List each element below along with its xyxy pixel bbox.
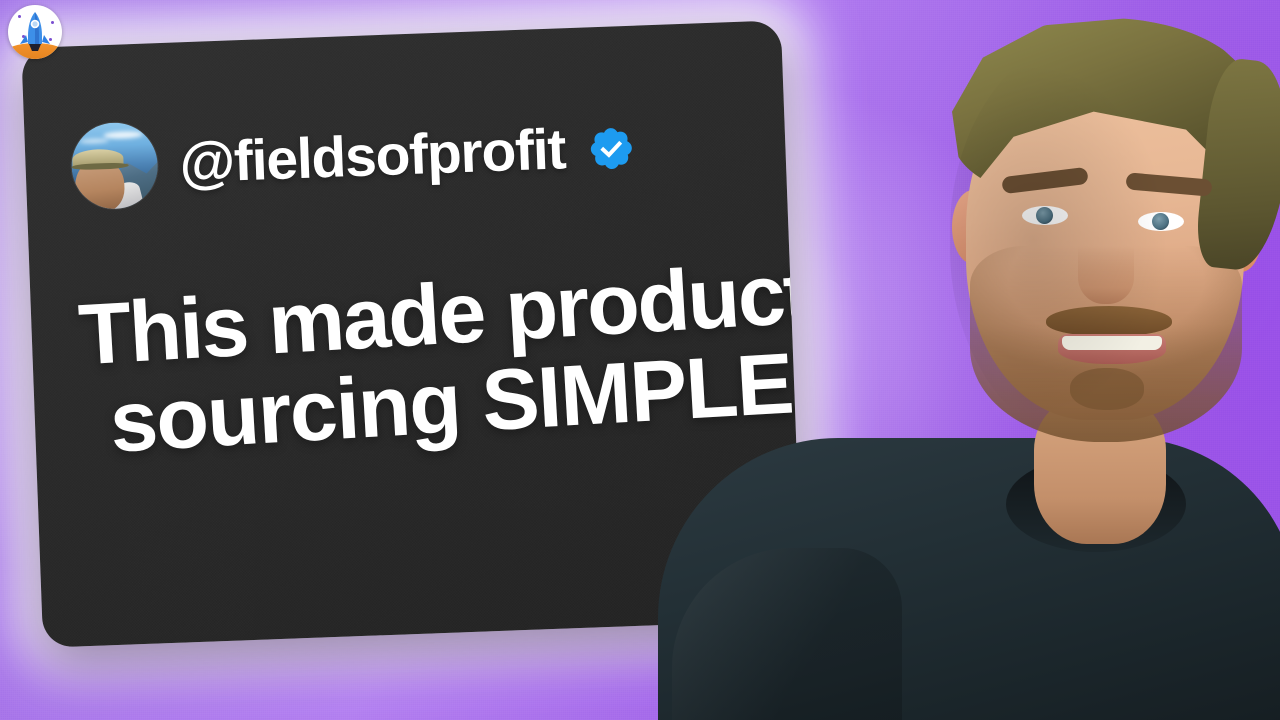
card-header: @fieldsofprofit <box>70 104 637 211</box>
verified-badge-icon <box>586 124 636 174</box>
logo-rocket-glyph <box>8 5 62 59</box>
account-handle: @fieldsofprofit <box>179 121 567 192</box>
avatar <box>70 121 159 210</box>
rocket-icon <box>8 5 62 59</box>
thumbnail-canvas: @fieldsofprofit This made product sourci… <box>0 0 1280 720</box>
card-surface: @fieldsofprofit This made product sourci… <box>21 20 802 647</box>
quote-card: @fieldsofprofit This made product sourci… <box>21 20 802 647</box>
headline: This made product sourcing SIMPLE! <box>76 252 775 470</box>
